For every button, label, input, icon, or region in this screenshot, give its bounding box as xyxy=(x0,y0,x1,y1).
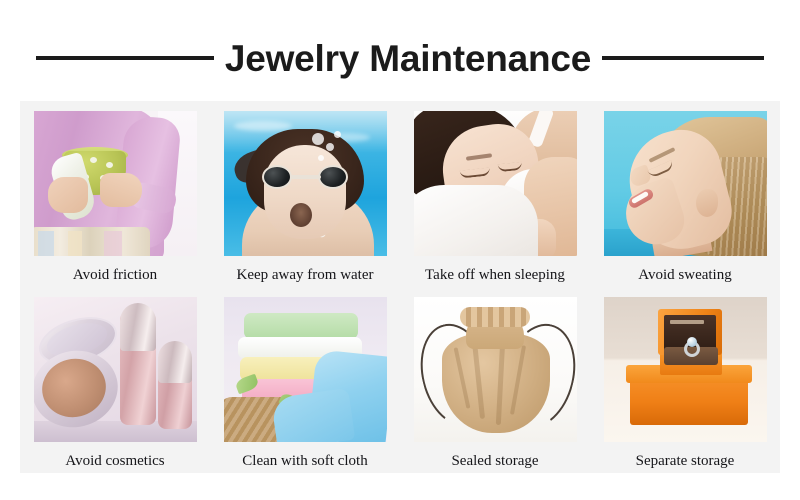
tip-card-separate-storage[interactable]: Separate storage xyxy=(590,287,780,473)
avoid-friction-image xyxy=(34,111,197,256)
avoid-sweating-image xyxy=(604,111,767,256)
clean-with-soft-cloth-image xyxy=(224,297,387,442)
separate-storage-image xyxy=(604,297,767,442)
tip-caption: Separate storage xyxy=(636,453,735,470)
page-title: Jewelry Maintenance xyxy=(214,40,602,77)
tips-panel: Avoid friction xyxy=(20,101,780,473)
keep-away-from-water-image xyxy=(224,111,387,256)
tip-card-sealed-storage[interactable]: Sealed storage xyxy=(400,287,590,473)
tip-card-take-off-when-sleeping[interactable]: Take off when sleeping xyxy=(400,101,590,287)
tip-caption: Avoid cosmetics xyxy=(65,453,164,470)
title-rule-right xyxy=(602,56,764,60)
tip-caption: Take off when sleeping xyxy=(425,267,565,284)
tip-card-avoid-cosmetics[interactable]: Avoid cosmetics xyxy=(20,287,210,473)
tip-caption: Sealed storage xyxy=(451,453,538,470)
tip-caption: Clean with soft cloth xyxy=(242,453,367,470)
tip-card-keep-away-from-water[interactable]: Keep away from water xyxy=(210,101,400,287)
avoid-cosmetics-image xyxy=(34,297,197,442)
tip-card-avoid-sweating[interactable]: Avoid sweating xyxy=(590,101,780,287)
tip-card-avoid-friction[interactable]: Avoid friction xyxy=(20,101,210,287)
tip-card-clean-with-soft-cloth[interactable]: Clean with soft cloth xyxy=(210,287,400,473)
tip-caption: Keep away from water xyxy=(236,267,373,284)
title-rule-left xyxy=(36,56,214,60)
tip-caption: Avoid sweating xyxy=(638,267,731,284)
take-off-when-sleeping-image xyxy=(414,111,577,256)
sealed-storage-image xyxy=(414,297,577,442)
tips-grid: Avoid friction xyxy=(20,101,780,473)
page-title-row: Jewelry Maintenance xyxy=(0,30,800,86)
tip-caption: Avoid friction xyxy=(73,267,157,284)
